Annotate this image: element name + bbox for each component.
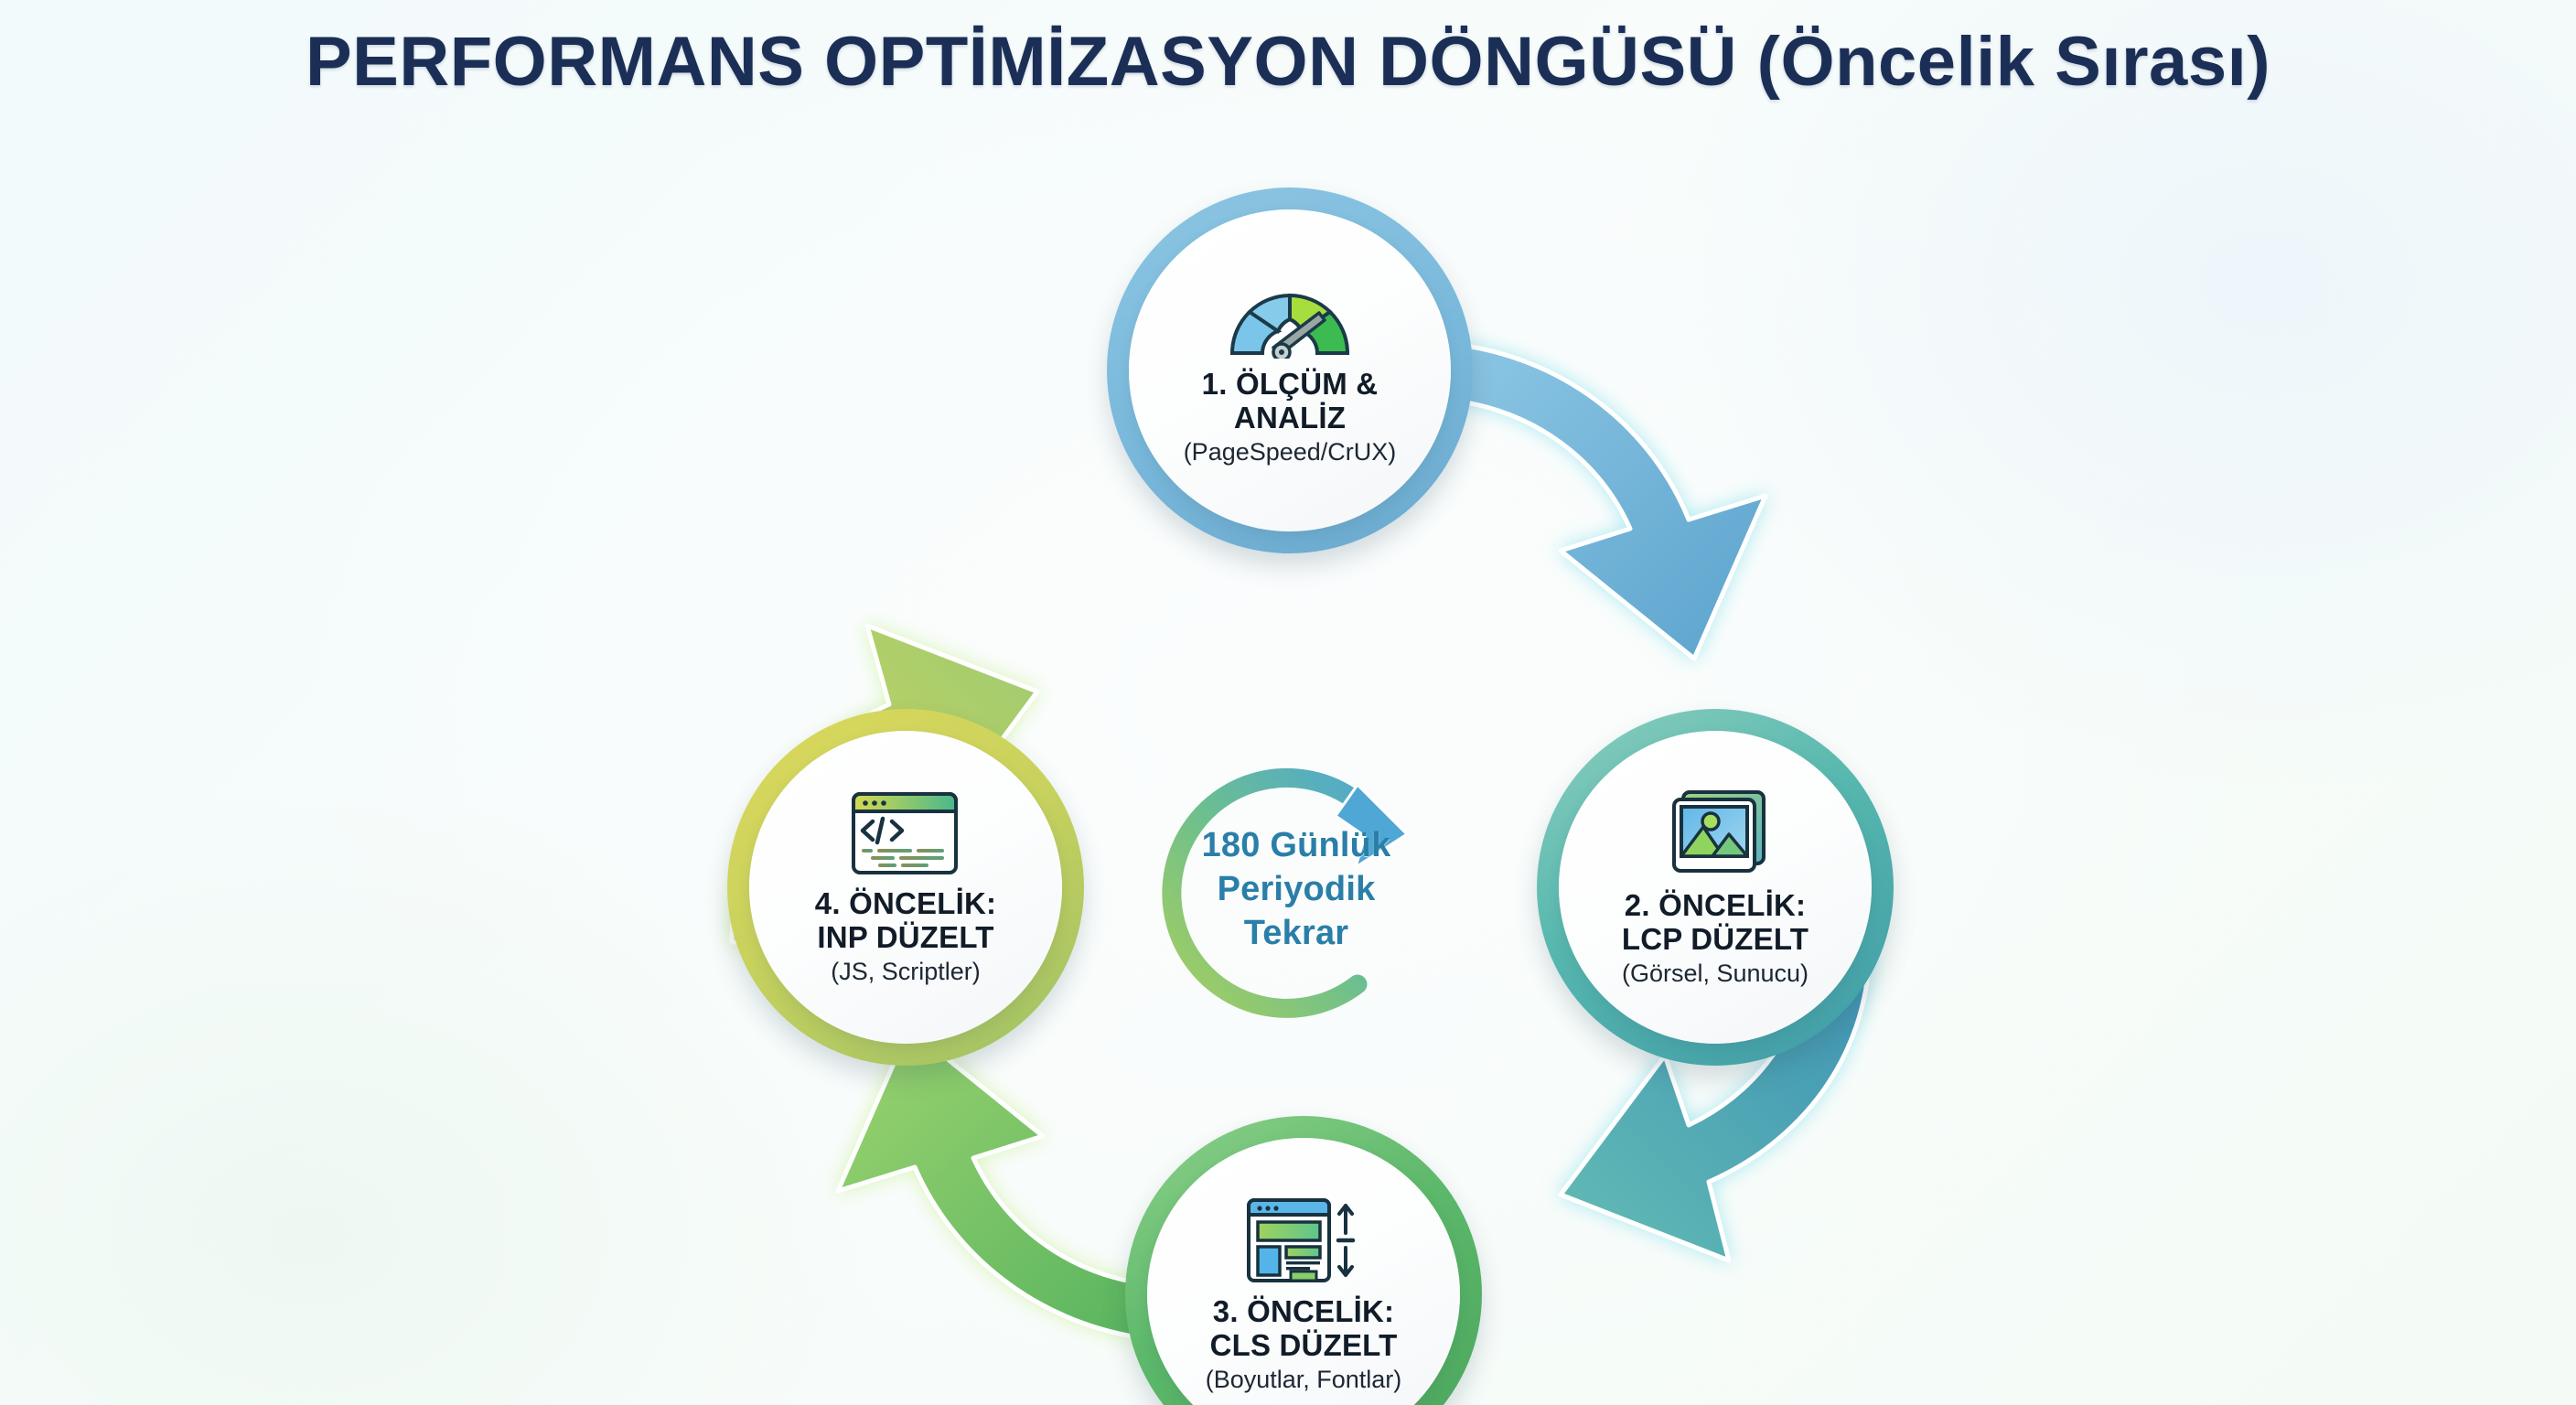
hub-label-line3: Tekrar <box>1202 912 1391 956</box>
node2-title-line1: 2. ÖNCELİK: <box>1625 889 1806 923</box>
node1-subtitle: (PageSpeed/CrUX) <box>1184 439 1397 467</box>
speedometer-gauge-icon <box>1221 274 1358 359</box>
page-title: PERFORMANS OPTİMİZASYON DÖNGÜSÜ (Öncelik… <box>0 22 2576 102</box>
hub-label: 180 Günlük Periyodik Tekrar <box>1202 824 1391 956</box>
layout-shift-icon <box>1243 1195 1364 1286</box>
node-olcum-analiz[interactable]: 1. ÖLÇÜM & ANALİZ (PageSpeed/CrUX) <box>1107 188 1473 553</box>
node3-subtitle: (Boyutlar, Fontlar) <box>1206 1367 1402 1394</box>
node-lcp-duzelt[interactable]: 2. ÖNCELİK: LCP DÜZELT (Görsel, Sunucu) <box>1537 709 1894 1066</box>
hub-label-line1: 180 Günlük <box>1202 824 1391 868</box>
cycle-hub: 180 Günlük Periyodik Tekrar <box>1145 739 1447 1041</box>
node2-title-line2: LCP DÜZELT <box>1622 923 1809 957</box>
node2-subtitle: (Görsel, Sunucu) <box>1622 960 1809 988</box>
node4-title-line1: 4. ÖNCELİK: <box>815 887 996 921</box>
node-inp-duzelt[interactable]: 4. ÖNCELİK: INP DÜZELT (JS, Scriptler) <box>727 709 1084 1066</box>
diagram-canvas: PERFORMANS OPTİMİZASYON DÖNGÜSÜ (Öncelik… <box>0 0 2576 1405</box>
arrow-1-to-2 <box>1454 346 1766 659</box>
node1-title-line1: 1. ÖLÇÜM & <box>1202 368 1379 402</box>
node3-title-line1: 3. ÖNCELİK: <box>1213 1295 1394 1329</box>
node1-title-line2: ANALİZ <box>1234 402 1346 435</box>
cycle-diagram: 180 Günlük Periyodik Tekrar <box>0 137 2576 1405</box>
code-window-icon <box>848 788 963 878</box>
hub-label-line2: Periyodik <box>1202 868 1391 912</box>
node4-title-line2: INP DÜZELT <box>817 921 993 955</box>
node3-title-line2: CLS DÜZELT <box>1210 1329 1398 1363</box>
node4-subtitle: (JS, Scriptler) <box>831 959 981 986</box>
image-stack-icon <box>1661 787 1769 880</box>
arrow-3-to-4 <box>838 1028 1147 1337</box>
